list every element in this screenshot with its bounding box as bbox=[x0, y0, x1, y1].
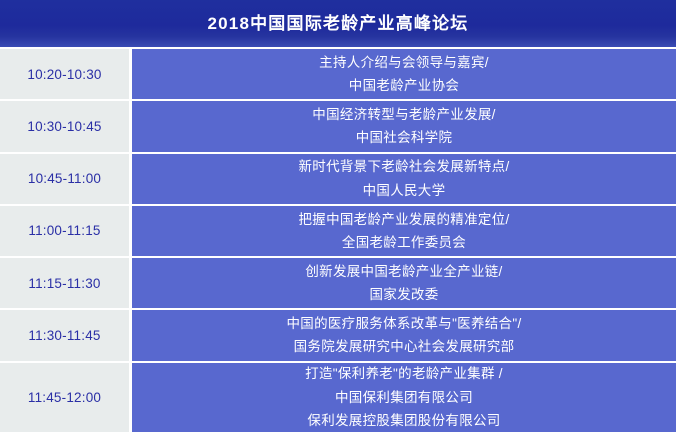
time-cell: 10:45-11:00 bbox=[0, 154, 132, 204]
time-label: 10:20-10:30 bbox=[27, 67, 101, 82]
agenda-table: 2018中国国际老龄产业高峰论坛 10:20-10:30 主持人介绍与会领导与嘉… bbox=[0, 0, 676, 432]
time-cell: 11:30-11:45 bbox=[0, 310, 132, 360]
topic-organization: 国家发改委 bbox=[370, 283, 439, 306]
time-label: 10:30-10:45 bbox=[27, 119, 101, 134]
time-label: 11:30-11:45 bbox=[28, 328, 100, 343]
time-cell: 11:45-12:00 bbox=[0, 363, 132, 432]
table-row: 10:45-11:00 新时代背景下老龄社会发展新特点/ 中国人民大学 bbox=[0, 154, 676, 206]
topic-title: 把握中国老龄产业发展的精准定位/ bbox=[298, 208, 509, 231]
topic-title: 主持人介绍与会领导与嘉宾/ bbox=[319, 51, 489, 74]
time-label: 11:15-11:30 bbox=[28, 276, 100, 291]
topic-title: 创新发展中国老龄产业全产业链/ bbox=[305, 260, 502, 283]
time-cell: 10:20-10:30 bbox=[0, 49, 132, 99]
time-cell: 10:30-10:45 bbox=[0, 101, 132, 151]
time-label: 11:45-12:00 bbox=[28, 390, 101, 405]
topic-title: 中国经济转型与老龄产业发展/ bbox=[312, 103, 495, 126]
topic-cell: 中国的医疗服务体系改革与"医养结合"/ 国务院发展研究中心社会发展研究部 bbox=[132, 310, 676, 360]
topic-organization: 全国老龄工作委员会 bbox=[342, 231, 466, 254]
topic-organization: 中国人民大学 bbox=[363, 179, 446, 202]
topic-cell: 打造"保利养老"的老龄产业集群 / 中国保利集团有限公司 保利发展控股集团股份有… bbox=[132, 363, 676, 432]
topic-organization-secondary: 保利发展控股集团股份有限公司 bbox=[307, 409, 500, 432]
table-row: 11:30-11:45 中国的医疗服务体系改革与"医养结合"/ 国务院发展研究中… bbox=[0, 310, 676, 362]
topic-organization: 中国保利集团有限公司 bbox=[335, 386, 473, 409]
table-row: 11:15-11:30 创新发展中国老龄产业全产业链/ 国家发改委 bbox=[0, 258, 676, 310]
page-title: 2018中国国际老龄产业高峰论坛 bbox=[207, 15, 468, 32]
topic-cell: 新时代背景下老龄社会发展新特点/ 中国人民大学 bbox=[132, 154, 676, 204]
topic-organization: 中国社会科学院 bbox=[356, 126, 453, 149]
time-label: 10:45-11:00 bbox=[28, 171, 101, 186]
agenda-rows: 10:20-10:30 主持人介绍与会领导与嘉宾/ 中国老龄产业协会 10:30… bbox=[0, 49, 676, 432]
topic-title: 中国的医疗服务体系改革与"医养结合"/ bbox=[286, 312, 521, 335]
topic-organization: 国务院发展研究中心社会发展研究部 bbox=[294, 335, 515, 358]
table-row: 10:20-10:30 主持人介绍与会领导与嘉宾/ 中国老龄产业协会 bbox=[0, 49, 676, 101]
time-label: 11:00-11:15 bbox=[28, 223, 100, 238]
table-row: 11:45-12:00 打造"保利养老"的老龄产业集群 / 中国保利集团有限公司… bbox=[0, 363, 676, 432]
topic-cell: 主持人介绍与会领导与嘉宾/ 中国老龄产业协会 bbox=[132, 49, 676, 99]
time-cell: 11:15-11:30 bbox=[0, 258, 132, 308]
topic-cell: 中国经济转型与老龄产业发展/ 中国社会科学院 bbox=[132, 101, 676, 151]
topic-cell: 创新发展中国老龄产业全产业链/ 国家发改委 bbox=[132, 258, 676, 308]
time-cell: 11:00-11:15 bbox=[0, 206, 132, 256]
topic-organization: 中国老龄产业协会 bbox=[349, 74, 459, 97]
table-row: 11:00-11:15 把握中国老龄产业发展的精准定位/ 全国老龄工作委员会 bbox=[0, 206, 676, 258]
topic-cell: 把握中国老龄产业发展的精准定位/ 全国老龄工作委员会 bbox=[132, 206, 676, 256]
agenda-header-banner: 2018中国国际老龄产业高峰论坛 bbox=[0, 0, 676, 47]
topic-title: 打造"保利养老"的老龄产业集群 / bbox=[305, 362, 503, 385]
table-row: 10:30-10:45 中国经济转型与老龄产业发展/ 中国社会科学院 bbox=[0, 101, 676, 153]
topic-title: 新时代背景下老龄社会发展新特点/ bbox=[298, 155, 509, 178]
